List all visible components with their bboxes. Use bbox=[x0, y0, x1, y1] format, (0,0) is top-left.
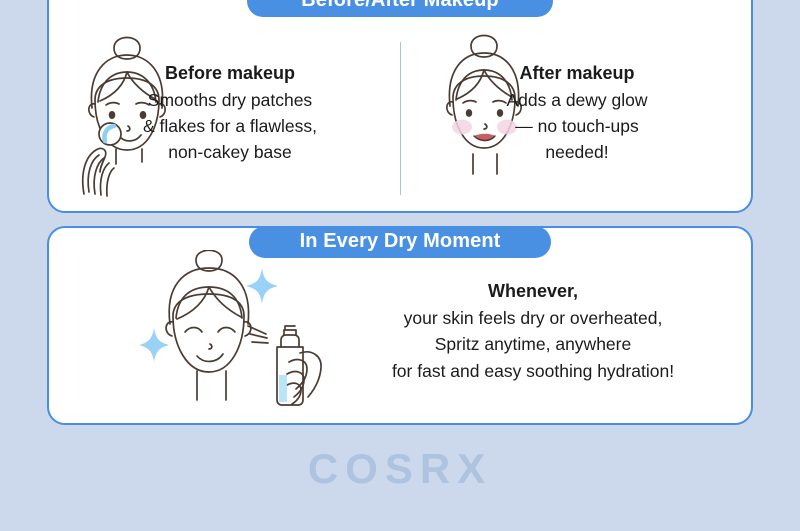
every-dry-moment-line-2: Spritz anytime, anywhere bbox=[348, 331, 718, 358]
after-makeup-text: After makeup Adds a dewy glow — no touch… bbox=[408, 60, 746, 165]
after-makeup-heading: After makeup bbox=[408, 60, 746, 86]
column-before: Before makeup Smooths dry patches & flak… bbox=[60, 25, 400, 200]
after-makeup-line-1: Adds a dewy glow bbox=[408, 87, 746, 113]
before-makeup-line-2: & flakes for a flawless, bbox=[60, 113, 400, 139]
badge-before-after-makeup: Before/After Makeup bbox=[247, 0, 553, 17]
column-divider bbox=[400, 42, 401, 195]
cosrx-logo: COSRX bbox=[0, 445, 800, 493]
after-makeup-line-3: needed! bbox=[408, 139, 746, 165]
infographic-canvas: Before/After Makeup bbox=[0, 0, 800, 531]
before-makeup-heading: Before makeup bbox=[60, 60, 400, 86]
before-makeup-text: Before makeup Smooths dry patches & flak… bbox=[60, 60, 400, 165]
after-makeup-line-2: — no touch-ups bbox=[408, 113, 746, 139]
before-makeup-line-3: non-cakey base bbox=[60, 139, 400, 165]
every-dry-moment-heading: Whenever, bbox=[348, 278, 718, 305]
woman-spraying-mist-icon bbox=[140, 250, 340, 415]
every-dry-moment-text: Whenever, your skin feels dry or overhea… bbox=[348, 278, 718, 384]
before-makeup-line-1: Smooths dry patches bbox=[60, 87, 400, 113]
every-dry-moment-line-1: your skin feels dry or overheated, bbox=[348, 305, 718, 332]
column-after: After makeup Adds a dewy glow — no touch… bbox=[408, 25, 746, 200]
every-dry-moment-line-3: for fast and easy soothing hydration! bbox=[348, 358, 718, 385]
